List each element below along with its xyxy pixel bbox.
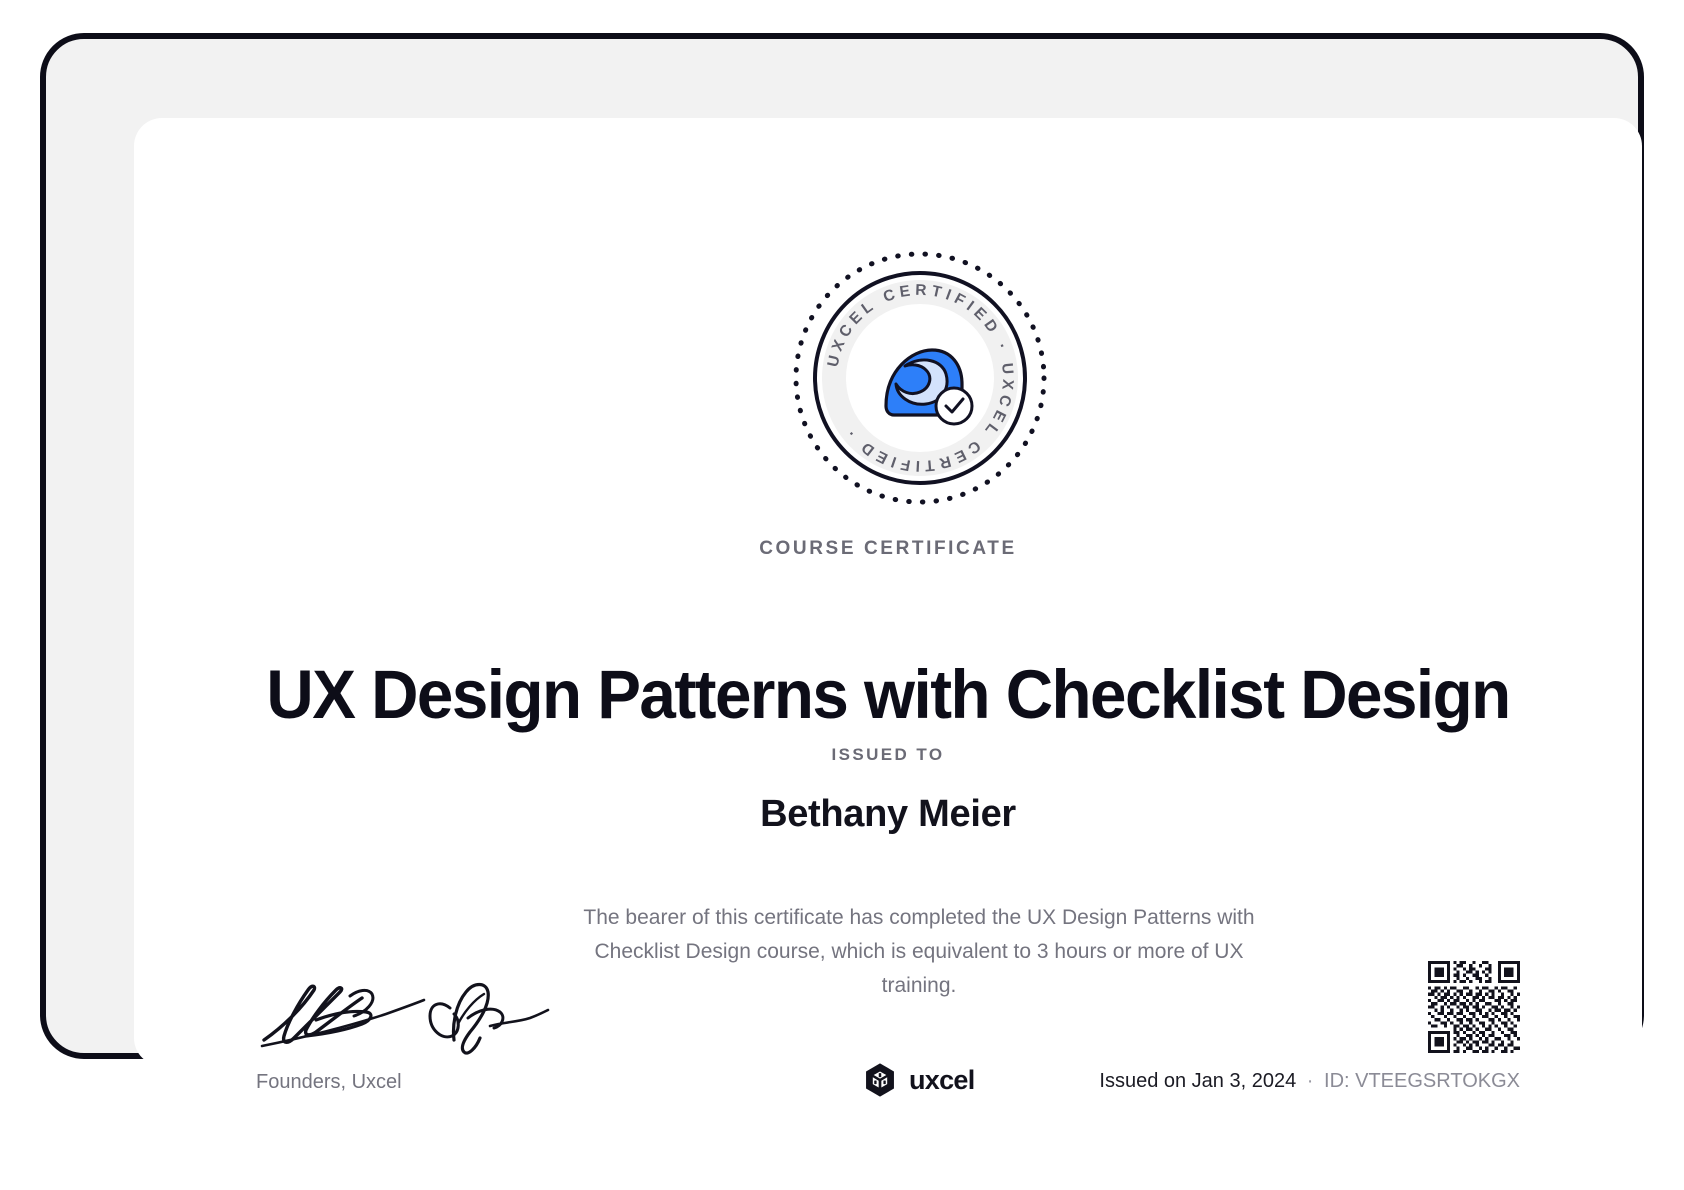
meta-separator: · (1302, 1070, 1319, 1092)
uxcel-brand-logo: uxcel (862, 1062, 975, 1098)
founders-label: Founders, Uxcel (256, 1071, 402, 1094)
uxcel-certified-seal: UXCEL CERTIFIED · UXCEL CERTIFIED · (788, 246, 1052, 510)
recipient-name: Bethany Meier (134, 793, 1642, 836)
certificate-frame: UXCEL CERTIFIED · UXCEL CERTIFIED · COUR… (40, 33, 1644, 1059)
certificate-id: ID: VTEEGSRTOKGX (1324, 1070, 1520, 1092)
issued-on-date: Issued on Jan 3, 2024 (1099, 1070, 1296, 1092)
certificate-description: The bearer of this certificate has compl… (564, 901, 1274, 1003)
certificate-type-label: COURSE CERTIFICATE (134, 538, 1642, 560)
uxcel-hexagon-icon (862, 1062, 898, 1098)
certificate-card: UXCEL CERTIFIED · UXCEL CERTIFIED · COUR… (134, 118, 1642, 1066)
founders-signatures (254, 978, 554, 1058)
issued-to-label: ISSUED TO (134, 745, 1642, 765)
issue-metadata: Issued on Jan 3, 2024 · ID: VTEEGSRTOKGX (1099, 1070, 1520, 1093)
seal-check-badge (936, 388, 972, 424)
uxcel-wordmark: uxcel (909, 1065, 975, 1096)
verification-qr-code[interactable] (1428, 961, 1520, 1053)
course-title: UX Design Patterns with Checklist Design (238, 654, 1538, 736)
